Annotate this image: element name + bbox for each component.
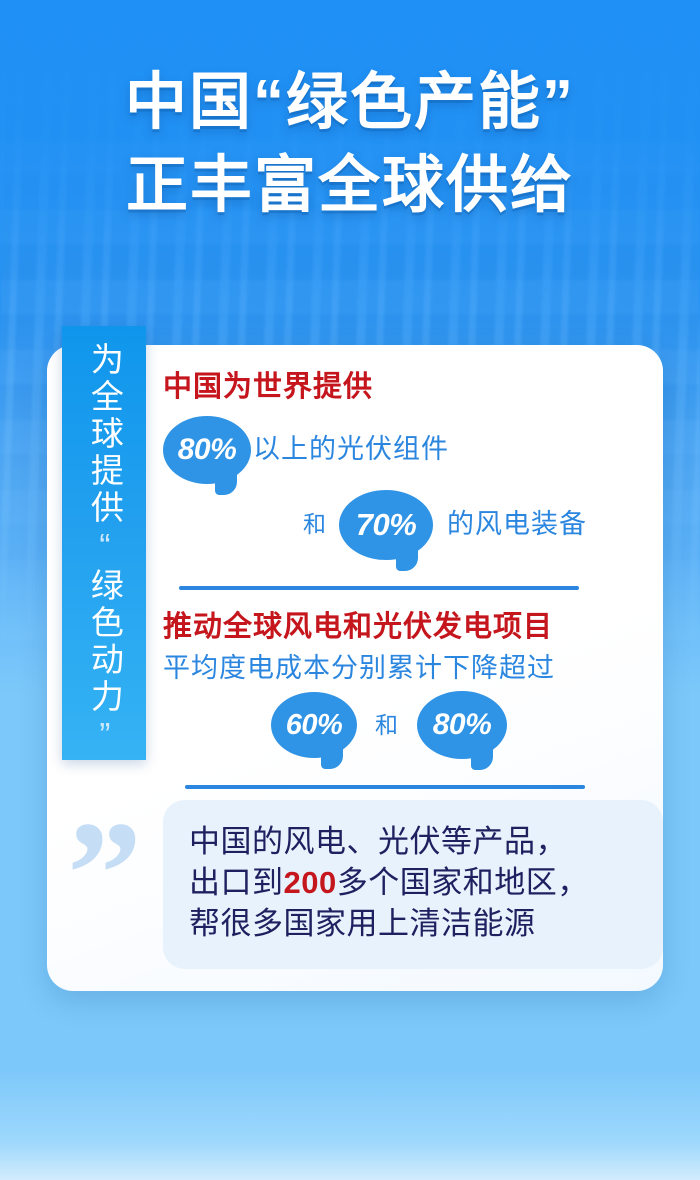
quote-line-2-before: 出口到 xyxy=(189,865,284,900)
section-1-heading: 中国为世界提供 xyxy=(163,372,663,404)
footer: 人民网 people.cn 数 读 中国 xyxy=(0,1040,700,1160)
section-1-conjunction: 和 xyxy=(303,512,327,537)
percent-bubble-80-cost: 80% xyxy=(417,691,507,759)
quote-line-2: 出口到200多个国家和地区， xyxy=(189,863,641,904)
page-title: 中国“绿色产能” 正丰富全球供给 xyxy=(0,66,700,222)
quote-line-1: 中国的风电、光伏等产品， xyxy=(189,822,641,863)
section-1-row-1: 80% 以上的光伏组件 xyxy=(163,416,663,484)
side-tab-emphasis: 绿色动力 xyxy=(86,568,123,716)
section-2-row: 60% 和 80% xyxy=(163,691,663,759)
section-1-row-1-text: 以上的光伏组件 xyxy=(253,435,449,465)
section-1: 中国为世界提供 80% 以上的光伏组件 和 70% 的风电装备 xyxy=(163,372,663,590)
quote-highlight-200: 200 xyxy=(284,865,337,900)
side-tab-close-quote: ” xyxy=(86,716,123,757)
side-tab: 为全球提供“绿色动力” xyxy=(62,326,146,760)
quote-mark-icon: ” xyxy=(67,820,163,906)
card-content: 中国为世界提供 80% 以上的光伏组件 和 70% 的风电装备 推动全球风电和光… xyxy=(163,372,663,789)
percent-bubble-70-wind: 70% xyxy=(339,490,433,560)
side-tab-prefix: 为全球提供 xyxy=(86,342,123,527)
percent-bubble-80-solar: 80% xyxy=(163,416,251,484)
title-line-1: 中国“绿色产能” xyxy=(0,66,700,139)
section-1-row-2: 和 70% 的风电装备 xyxy=(163,490,663,560)
section-2-conjunction: 和 xyxy=(375,713,399,738)
divider-1 xyxy=(179,586,579,590)
quote-box: 中国的风电、光伏等产品， 出口到200多个国家和地区， 帮很多国家用上清洁能源 xyxy=(163,800,663,969)
section-1-row-2-text: 的风电装备 xyxy=(447,510,587,540)
divider-2 xyxy=(185,785,585,789)
percent-bubble-60-cost: 60% xyxy=(271,692,357,758)
quote-line-3: 帮很多国家用上清洁能源 xyxy=(189,904,641,945)
infographic-poster: 中国“绿色产能” 正丰富全球供给 为全球提供“绿色动力” 中国为世界提供 80%… xyxy=(0,0,700,1180)
quote-line-2-after: 多个国家和地区， xyxy=(337,865,589,900)
section-2: 推动全球风电和光伏发电项目 平均度电成本分别累计下降超过 60% 和 80% xyxy=(163,612,663,790)
side-tab-open-quote: “ xyxy=(86,527,123,568)
title-line-2: 正丰富全球供给 xyxy=(0,149,700,222)
side-tab-label: 为全球提供“绿色动力” xyxy=(87,342,122,757)
section-2-heading: 推动全球风电和光伏发电项目 xyxy=(163,612,663,644)
section-2-subtext: 平均度电成本分别累计下降超过 xyxy=(163,654,663,684)
